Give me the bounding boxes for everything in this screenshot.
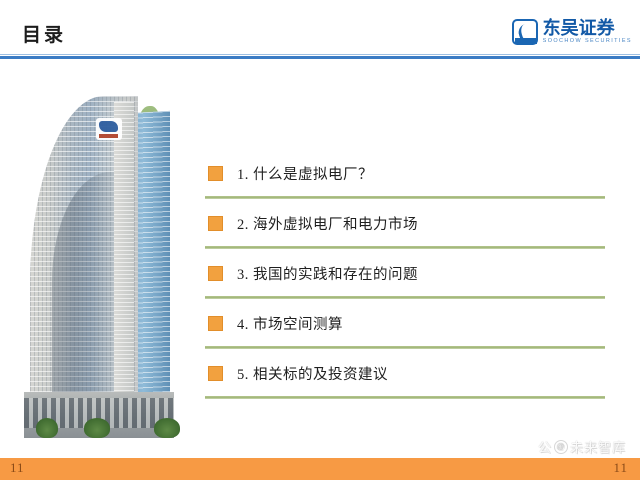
footer-bar <box>0 458 640 480</box>
square-bullet-icon <box>208 266 223 281</box>
header-rule-highlight <box>0 54 640 55</box>
toc-entry-row[interactable]: 2. 海外虚拟电厂和电力市场 <box>205 205 610 241</box>
page-title: 目录 <box>22 26 66 45</box>
brand-name-cn: 东吴证券 <box>543 19 632 37</box>
toc-entry-2[interactable]: 2. 海外虚拟电厂和电力市场 <box>205 205 610 255</box>
square-bullet-icon <box>208 216 223 231</box>
toc-divider <box>205 396 605 399</box>
toc-entry-row[interactable]: 1. 什么是虚拟电厂？ <box>205 155 610 191</box>
toc-divider <box>205 196 605 199</box>
brand-logo-text: 东吴证券 SOOCHOW SECURITIES <box>543 19 632 45</box>
toc-divider <box>205 296 605 299</box>
toc-entry-1[interactable]: 1. 什么是虚拟电厂？ <box>205 155 610 205</box>
toc-entry-label: 5. 相关标的及投资建议 <box>237 363 388 384</box>
toc-divider <box>205 246 605 249</box>
slide-header: 目录 东吴证券 SOOCHOW SECURITIES <box>0 0 640 60</box>
photo-shrub <box>84 418 110 438</box>
photo-shrub <box>36 418 58 438</box>
slide-canvas: 目录 东吴证券 SOOCHOW SECURITIES <box>0 0 640 480</box>
toc-entry-label: 3. 我国的实践和存在的问题 <box>237 263 418 284</box>
brand-logo: 东吴证券 SOOCHOW SECURITIES <box>512 16 632 48</box>
toc-entry-row[interactable]: 4. 市场空间测算 <box>205 305 610 341</box>
photo-rooftop-logo-sign <box>96 118 122 140</box>
page-number-right: 11 <box>613 461 628 474</box>
soochow-securities-logo-mark <box>512 19 538 45</box>
toc-entry-row[interactable]: 5. 相关标的及投资建议 <box>205 355 610 391</box>
toc-entry-label: 2. 海外虚拟电厂和电力市场 <box>237 213 418 234</box>
headquarters-building-photo <box>8 88 198 438</box>
photo-shrub <box>154 418 180 438</box>
watermark: 公 @ 未来智库 <box>538 437 626 456</box>
toc-entry-5[interactable]: 5. 相关标的及投资建议 <box>205 355 610 405</box>
watermark-badge-icon: @ <box>554 440 568 454</box>
toc-entry-3[interactable]: 3. 我国的实践和存在的问题 <box>205 255 610 305</box>
watermark-text: 未来智库 <box>570 437 626 456</box>
square-bullet-icon <box>208 166 223 181</box>
header-rule <box>0 56 640 59</box>
toc-entry-label: 1. 什么是虚拟电厂？ <box>237 163 373 184</box>
watermark-prefix: 公 <box>538 437 552 456</box>
table-of-contents: 1. 什么是虚拟电厂？ 2. 海外虚拟电厂和电力市场 3. 我国的实践和存在的问… <box>205 155 610 405</box>
square-bullet-icon <box>208 316 223 331</box>
photo-tower-right-pier <box>114 102 134 438</box>
brand-name-en: SOOCHOW SECURITIES <box>543 39 632 45</box>
toc-entry-label: 4. 市场空间测算 <box>237 313 343 334</box>
toc-entry-4[interactable]: 4. 市场空间测算 <box>205 305 610 355</box>
photo-podium-base <box>24 392 174 438</box>
square-bullet-icon <box>208 366 223 381</box>
toc-divider <box>205 346 605 349</box>
page-number-left: 11 <box>10 461 25 474</box>
toc-entry-row[interactable]: 3. 我国的实践和存在的问题 <box>205 255 610 291</box>
